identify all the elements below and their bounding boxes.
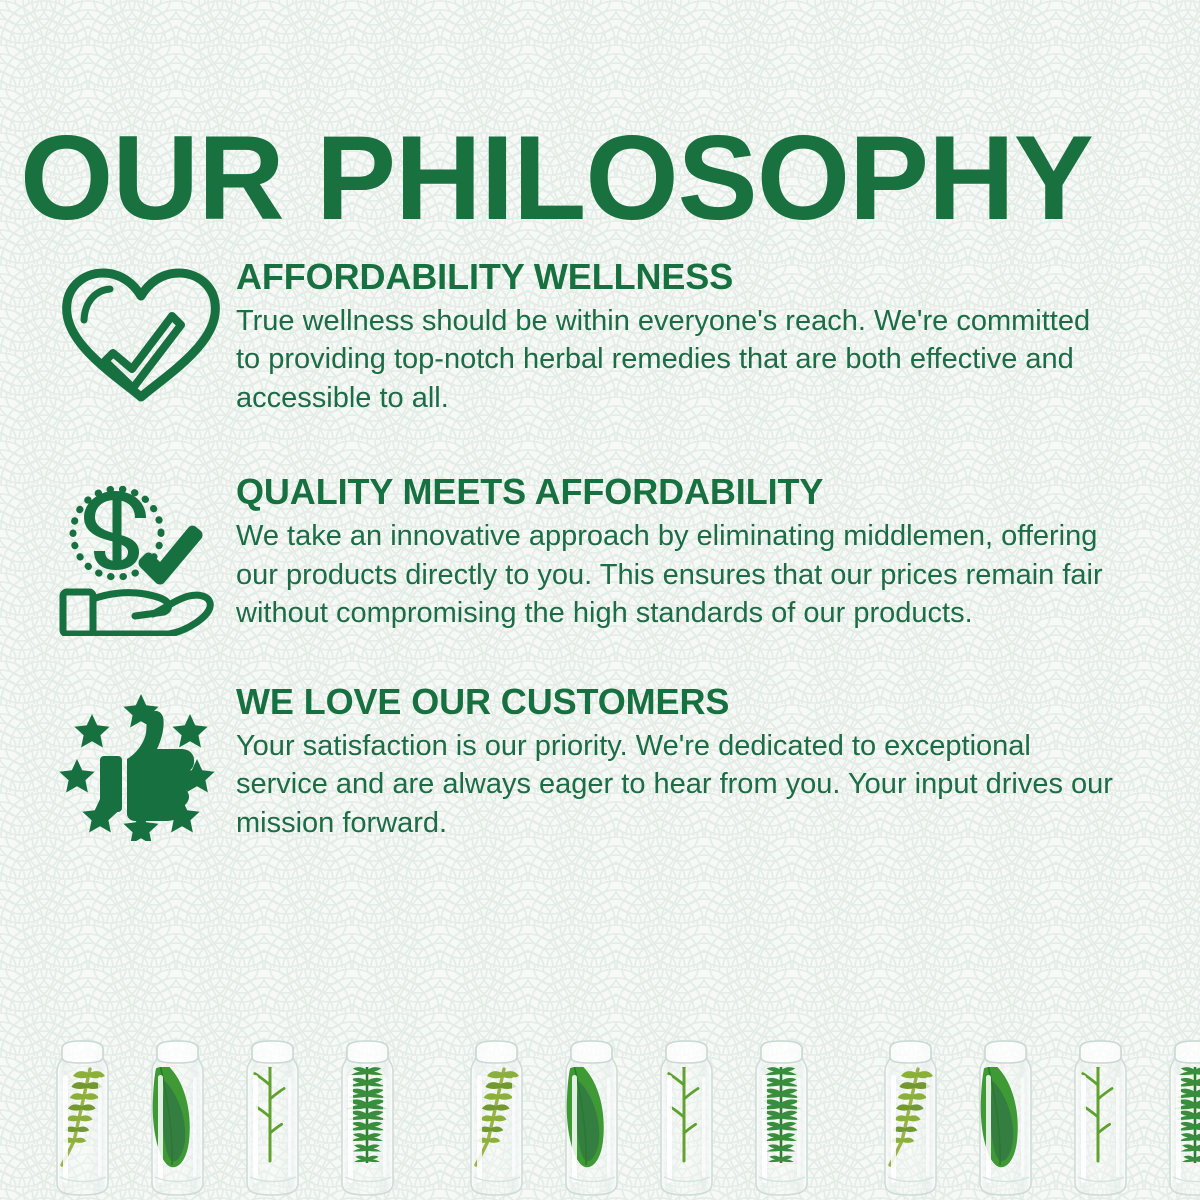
herb-vial-group xyxy=(863,1037,1200,1200)
thumbs-up-stars-icon xyxy=(46,677,236,837)
feature-title: QUALITY MEETS AFFORDABILITY xyxy=(236,473,1170,511)
feature-item-affordability-wellness: AFFORDABILITY WELLNESS True wellness sho… xyxy=(0,252,1200,417)
heart-check-icon xyxy=(46,252,236,412)
money-in-hand-icon xyxy=(46,467,236,627)
herb-vial-group xyxy=(449,1037,829,1200)
feature-text: We take an innovative approach by elimin… xyxy=(236,517,1116,633)
page-title: OUR PHILOSOPHY xyxy=(20,118,1180,238)
herb-vial-strip xyxy=(0,1025,1200,1200)
feature-body: AFFORDABILITY WELLNESS True wellness sho… xyxy=(236,252,1170,417)
poster-canvas: OUR PHILOSOPHY AFFORDABILITY WELLNESS Tr… xyxy=(0,0,1200,1200)
feature-title: WE LOVE OUR CUSTOMERS xyxy=(236,683,1170,721)
herb-vial xyxy=(973,1037,1038,1200)
herb-vial xyxy=(1163,1037,1200,1200)
herb-vial xyxy=(559,1037,624,1200)
herb-vial-group xyxy=(35,1037,415,1200)
herb-vial xyxy=(240,1037,305,1200)
feature-list: AFFORDABILITY WELLNESS True wellness sho… xyxy=(0,252,1200,842)
herb-vial xyxy=(464,1037,529,1200)
herb-vial xyxy=(145,1037,210,1200)
feature-text: True wellness should be within everyone'… xyxy=(236,302,1116,418)
feature-text: Your satisfaction is our priority. We're… xyxy=(236,727,1116,843)
feature-body: QUALITY MEETS AFFORDABILITY We take an i… xyxy=(236,467,1170,632)
herb-vial xyxy=(335,1037,400,1200)
feature-body: WE LOVE OUR CUSTOMERS Your satisfaction … xyxy=(236,677,1170,842)
herb-vial xyxy=(654,1037,719,1200)
feature-item-we-love-our-customers: WE LOVE OUR CUSTOMERS Your satisfaction … xyxy=(0,677,1200,842)
feature-title: AFFORDABILITY WELLNESS xyxy=(236,258,1170,296)
herb-vial xyxy=(749,1037,814,1200)
feature-item-quality-meets-affordability: QUALITY MEETS AFFORDABILITY We take an i… xyxy=(0,467,1200,632)
herb-vial xyxy=(1068,1037,1133,1200)
herb-vial xyxy=(50,1037,115,1200)
herb-vial xyxy=(878,1037,943,1200)
